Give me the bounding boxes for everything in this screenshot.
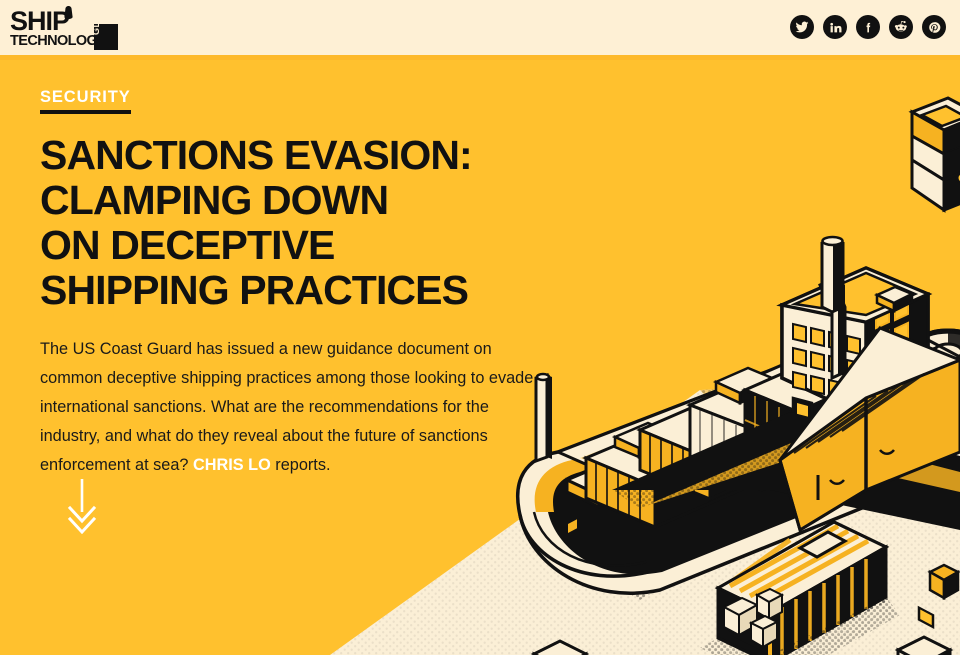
facebook-share-button[interactable] [856,15,880,39]
twitter-share-button[interactable] [790,15,814,39]
buoy-icon [63,6,74,19]
category-text: SECURITY [40,88,131,106]
pinterest-icon [928,21,941,34]
reddit-share-button[interactable] [889,15,913,39]
category-underline [40,110,131,114]
headline-line-2: CLAMPING DOWN [40,178,560,223]
standfirst-text-before: The US Coast Guard has issued a new guid… [40,340,533,474]
dock-bollard-right [930,565,958,598]
reddit-icon [894,20,908,34]
linkedin-share-button[interactable] [823,15,847,39]
social-share-bar [790,15,946,39]
header-divider [0,55,960,60]
scroll-down-arrow-icon[interactable] [67,478,97,534]
linkedin-icon [829,21,842,34]
site-header: SHIP TECHNOLOGY GLOBAL [0,0,960,55]
facebook-icon [862,21,875,34]
logo-technology-text: TECHNOLOGY [10,34,106,48]
pinterest-share-button[interactable] [922,15,946,39]
standfirst-text-after: reports. [271,456,331,474]
logo-ship-text: SHIP [10,8,69,34]
page-title: SANCTIONS EVASION: CLAMPING DOWN ON DECE… [40,133,560,313]
headline-line-1: SANCTIONS EVASION: [40,133,560,178]
article-standfirst: The US Coast Guard has issued a new guid… [40,335,545,480]
logo-global-badge: GLOBAL [94,24,118,50]
headline-line-4: SHIPPING PRACTICES [40,268,560,313]
author-byline[interactable]: CHRIS LO [193,456,271,474]
category-label[interactable]: SECURITY [40,88,131,114]
twitter-icon [795,20,809,34]
headline-line-3: ON DECEPTIVE [40,223,560,268]
logo-global-text: GLOBAL [94,24,101,35]
article-intro: SECURITY SANCTIONS EVASION: CLAMPING DOW… [40,88,560,480]
site-logo[interactable]: SHIP TECHNOLOGY GLOBAL [10,8,118,50]
